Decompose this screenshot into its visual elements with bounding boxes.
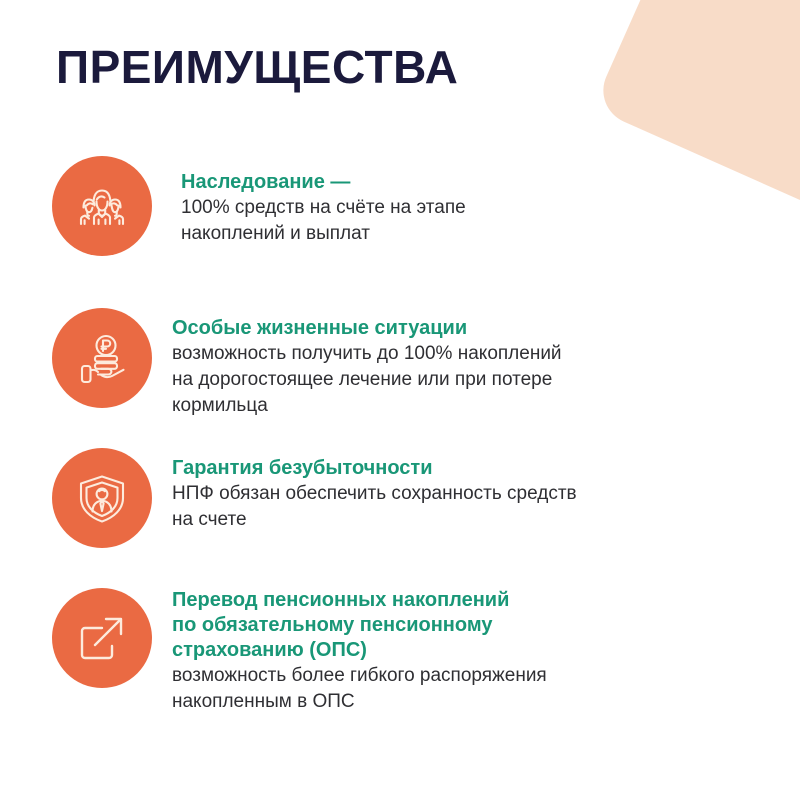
benefit-body: НПФ обязан обеспечить сохранность средст…	[172, 481, 577, 533]
benefits-poster: ПРЕИМУЩЕСТВА	[0, 0, 800, 800]
decorative-peach-shape	[592, 0, 800, 238]
list-item: Гарантия безубыточности НПФ обязан обесп…	[0, 448, 601, 548]
benefit-body: 100% средств на счёте на этапе накоплени…	[181, 195, 466, 247]
family-group-icon	[52, 156, 152, 256]
benefit-heading: Гарантия безубыточности	[172, 456, 577, 481]
benefit-text-block: Наследование — 100% средств на счёте на …	[152, 156, 490, 247]
benefit-body: возможность получить до 100% накоплений …	[172, 341, 562, 419]
shield-person-icon	[52, 448, 152, 548]
page-title: ПРЕИМУЩЕСТВА	[56, 40, 458, 94]
benefit-heading: Перевод пенсионных накоплений по обязате…	[172, 588, 547, 663]
benefit-text-block: Особые жизненные ситуации возможность по…	[152, 308, 586, 419]
benefit-heading: Наследование —	[181, 170, 466, 195]
external-link-arrow-icon	[52, 588, 152, 688]
hand-holding-ruble-coins-icon	[52, 308, 152, 408]
list-item: Особые жизненные ситуации возможность по…	[0, 308, 586, 419]
list-item: Наследование — 100% средств на счёте на …	[0, 156, 490, 256]
benefit-heading: Особые жизненные ситуации	[172, 316, 562, 341]
list-item: Перевод пенсионных накоплений по обязате…	[0, 588, 571, 715]
benefit-body: возможность более гибкого распоряжения н…	[172, 663, 547, 715]
benefit-text-block: Гарантия безубыточности НПФ обязан обесп…	[152, 448, 601, 533]
benefit-text-block: Перевод пенсионных накоплений по обязате…	[152, 588, 571, 715]
